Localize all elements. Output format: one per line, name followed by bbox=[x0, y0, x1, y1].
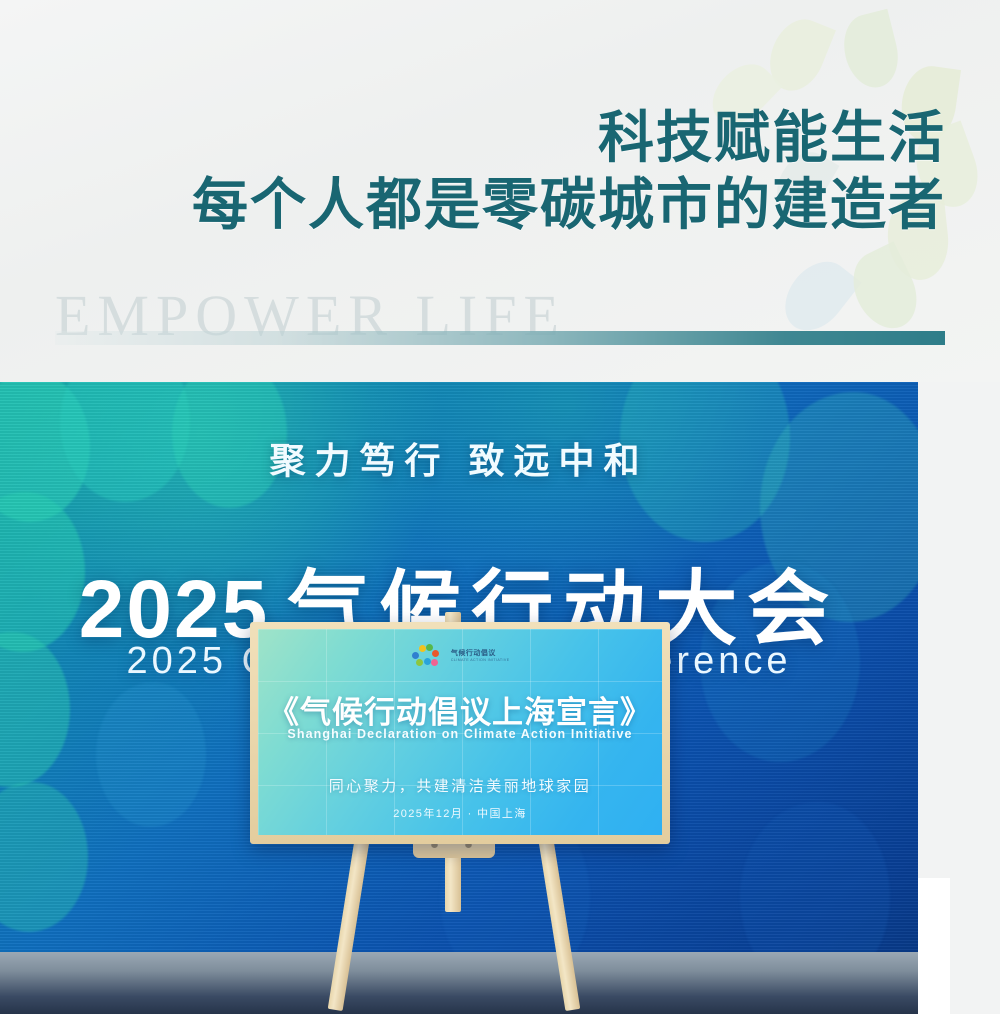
board-logo-en: CLIMATE ACTION INITIATIVE bbox=[451, 658, 510, 662]
page-header: 科技赋能生活 每个人都是零碳城市的建造者 EMPOWER LIFE bbox=[0, 0, 1000, 382]
declaration-board-frame: 气候行动倡议 CLIMATE ACTION INITIATIVE 《气候行动倡议… bbox=[250, 622, 670, 844]
board-logo: 气候行动倡议 CLIMATE ACTION INITIATIVE bbox=[258, 643, 662, 667]
easel-leg-right bbox=[538, 836, 580, 1011]
declaration-board: 气候行动倡议 CLIMATE ACTION INITIATIVE 《气候行动倡议… bbox=[258, 629, 662, 835]
page-title-line-2: 每个人都是零碳城市的建造者 bbox=[192, 177, 946, 236]
stage-slogan: 聚力笃行 致远中和 bbox=[0, 432, 918, 484]
backdrop-blob bbox=[0, 782, 88, 932]
declaration-slogan: 同心聚力，共建清洁美丽地球家园 bbox=[258, 775, 662, 796]
easel: 气候行动倡议 CLIMATE ACTION INITIATIVE 《气候行动倡议… bbox=[205, 632, 705, 1014]
right-white-strip bbox=[918, 878, 950, 1014]
declaration-date: 2025年12月 · 中国上海 bbox=[258, 805, 662, 821]
leaf-decor-icon bbox=[760, 11, 836, 99]
easel-leg-left bbox=[328, 836, 370, 1011]
conference-photo: 聚力笃行 致远中和 2025气候行动大会 2025 Climate Action… bbox=[0, 382, 918, 1014]
header-title-block: 科技赋能生活 每个人都是零碳城市的建造者 bbox=[192, 110, 946, 236]
header-accent-bar bbox=[55, 331, 945, 345]
declaration-title: 《气候行动倡议上海宣言》 bbox=[258, 687, 662, 732]
board-logo-cn: 气候行动倡议 bbox=[451, 648, 510, 658]
board-logo-text: 气候行动倡议 CLIMATE ACTION INITIATIVE bbox=[451, 648, 510, 662]
leaf-decor-icon bbox=[837, 9, 905, 93]
declaration-title-en: Shanghai Declaration on Climate Action I… bbox=[258, 727, 662, 741]
leaf-decor-icon bbox=[772, 249, 861, 342]
leaf-decor-icon bbox=[841, 241, 928, 338]
page-title-line-1: 科技赋能生活 bbox=[192, 110, 946, 169]
climate-action-figures-icon bbox=[410, 643, 440, 667]
